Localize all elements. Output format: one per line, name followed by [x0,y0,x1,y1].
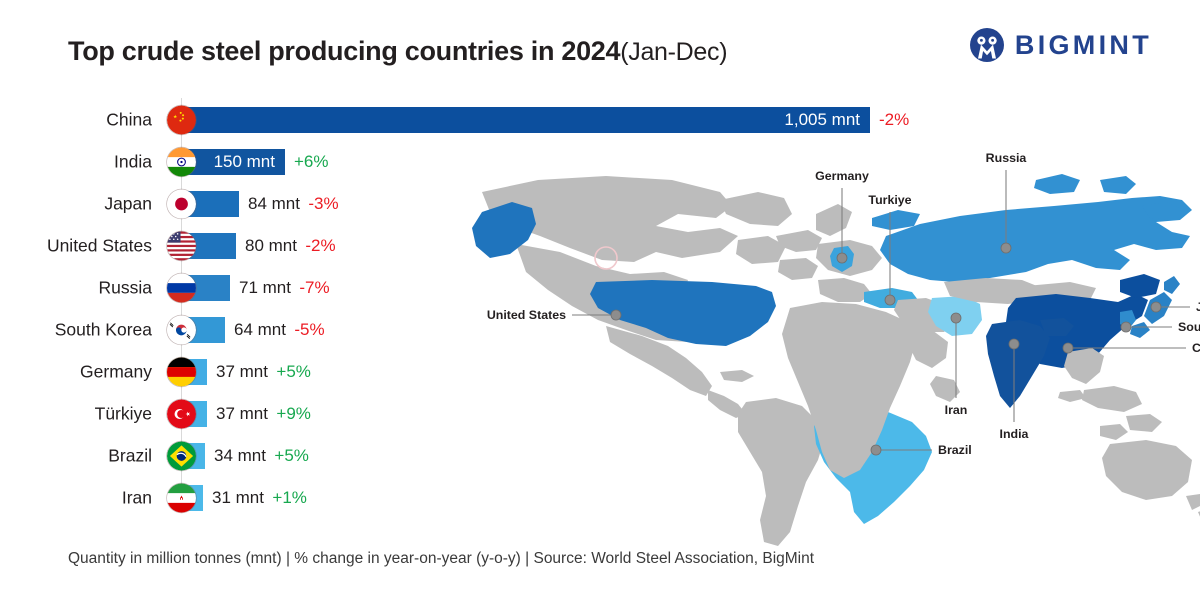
map-label-united-states: United States [487,308,566,322]
bar-value-label: 150 mnt [214,152,275,172]
world-map: United States Brazil Germany Turkiye [420,140,1200,550]
bar-row-country-label: South Korea [55,320,152,341]
bar-value-label: 64 mnt [234,320,286,340]
brand-logo: BIGMINT [970,28,1152,62]
bar-value-label: 34 mnt [214,446,266,466]
bar-yoy-change: -3% [308,194,338,214]
map-country-japan-3 [1130,322,1150,338]
bar-row-country-label: Brazil [108,446,152,467]
map-label-japan: Japan [1196,300,1200,314]
bar-row: Russia 71 mnt-7% [0,267,420,309]
brand-logo-text: BIGMINT [1015,32,1152,59]
bar-row-country-label: Russia [99,278,153,299]
bigmint-logo-mark-icon [970,28,1004,62]
flag-india-icon [167,148,196,177]
map-label-china: China [1192,341,1200,355]
map-country-russia-3 [1034,174,1080,194]
map-label-india: India [1000,427,1029,441]
bar-yoy-change: -2% [305,236,335,256]
bar-row-country-label: Iran [122,488,152,509]
map-label-germany: Germany [815,169,869,183]
bar-yoy-change: +5% [274,446,309,466]
bar-row: Türkiye 37 mnt+9% [0,393,420,435]
bar-value-label: 37 mnt [216,404,268,424]
bar-row: Brazil 34 mnt+5% [0,435,420,477]
bar-row-country-label: Türkiye [95,404,152,425]
map-landmass [472,174,1200,546]
bar-row: Germany 37 mnt+5% [0,351,420,393]
bar-chart: China 1,005 mnt-2%India 150 mnt+6%Japan … [0,96,420,516]
flag-turkiye-icon [167,400,196,429]
flag-south-korea-icon [167,316,196,345]
map-country-japan [1164,276,1180,294]
bar-row: Japan 84 mnt-3% [0,183,420,225]
bar [181,107,870,133]
flag-brazil-icon [167,442,196,471]
bar-row: Iran 31 mnt+1% [0,477,420,519]
bar-yoy-change: -7% [299,278,329,298]
bar-value-label: 31 mnt [212,488,264,508]
bar-row-country-label: United States [47,236,152,257]
flag-japan-icon [167,190,196,219]
bar-yoy-change: +1% [272,488,307,508]
flag-germany-icon [167,358,196,387]
bar-row: South Korea 64 mnt-5% [0,309,420,351]
bar-yoy-change: +6% [294,152,329,172]
bar-yoy-change: +5% [276,362,311,382]
map-label-brazil: Brazil [938,443,972,457]
header: Top crude steel producing countries in 2… [0,0,1200,92]
flag-china-icon [167,106,196,135]
page-title: Top crude steel producing countries in 2… [68,36,727,67]
bar-row: India 150 mnt+6% [0,141,420,183]
bar-row: United States 80 mnt-2% [0,225,420,267]
flag-iran-icon [167,484,196,513]
bar-value-label: 84 mnt [248,194,300,214]
bar-row-country-label: India [114,152,152,173]
bar-yoy-change: +9% [276,404,311,424]
map-label-russia: Russia [986,151,1027,165]
page-title-main: Top crude steel producing countries in 2… [68,36,620,66]
bar-row-country-label: China [106,110,152,131]
bar-value-label: 1,005 mnt [784,110,860,130]
flag-russia-icon [167,274,196,303]
map-label-iran: Iran [945,403,968,417]
bar-value-label: 80 mnt [245,236,297,256]
map-label-turkiye: Turkiye [868,193,911,207]
flag-united-states-icon [167,232,196,261]
page-title-sub: (Jan-Dec) [620,38,727,66]
bar-row: China 1,005 mnt-2% [0,99,420,141]
bar-yoy-change: -2% [879,110,909,130]
map-country-china-2 [1120,274,1160,298]
bar-row-country-label: Germany [80,362,152,383]
bar-row-country-label: Japan [104,194,152,215]
bar-value-label: 37 mnt [216,362,268,382]
map-label-south-korea: South Korea [1178,320,1200,334]
footer-note: Quantity in million tonnes (mnt) | % cha… [68,550,814,568]
bar-value-label: 71 mnt [239,278,291,298]
bar-yoy-change: -5% [294,320,324,340]
map-country-russia-4 [1100,176,1136,194]
